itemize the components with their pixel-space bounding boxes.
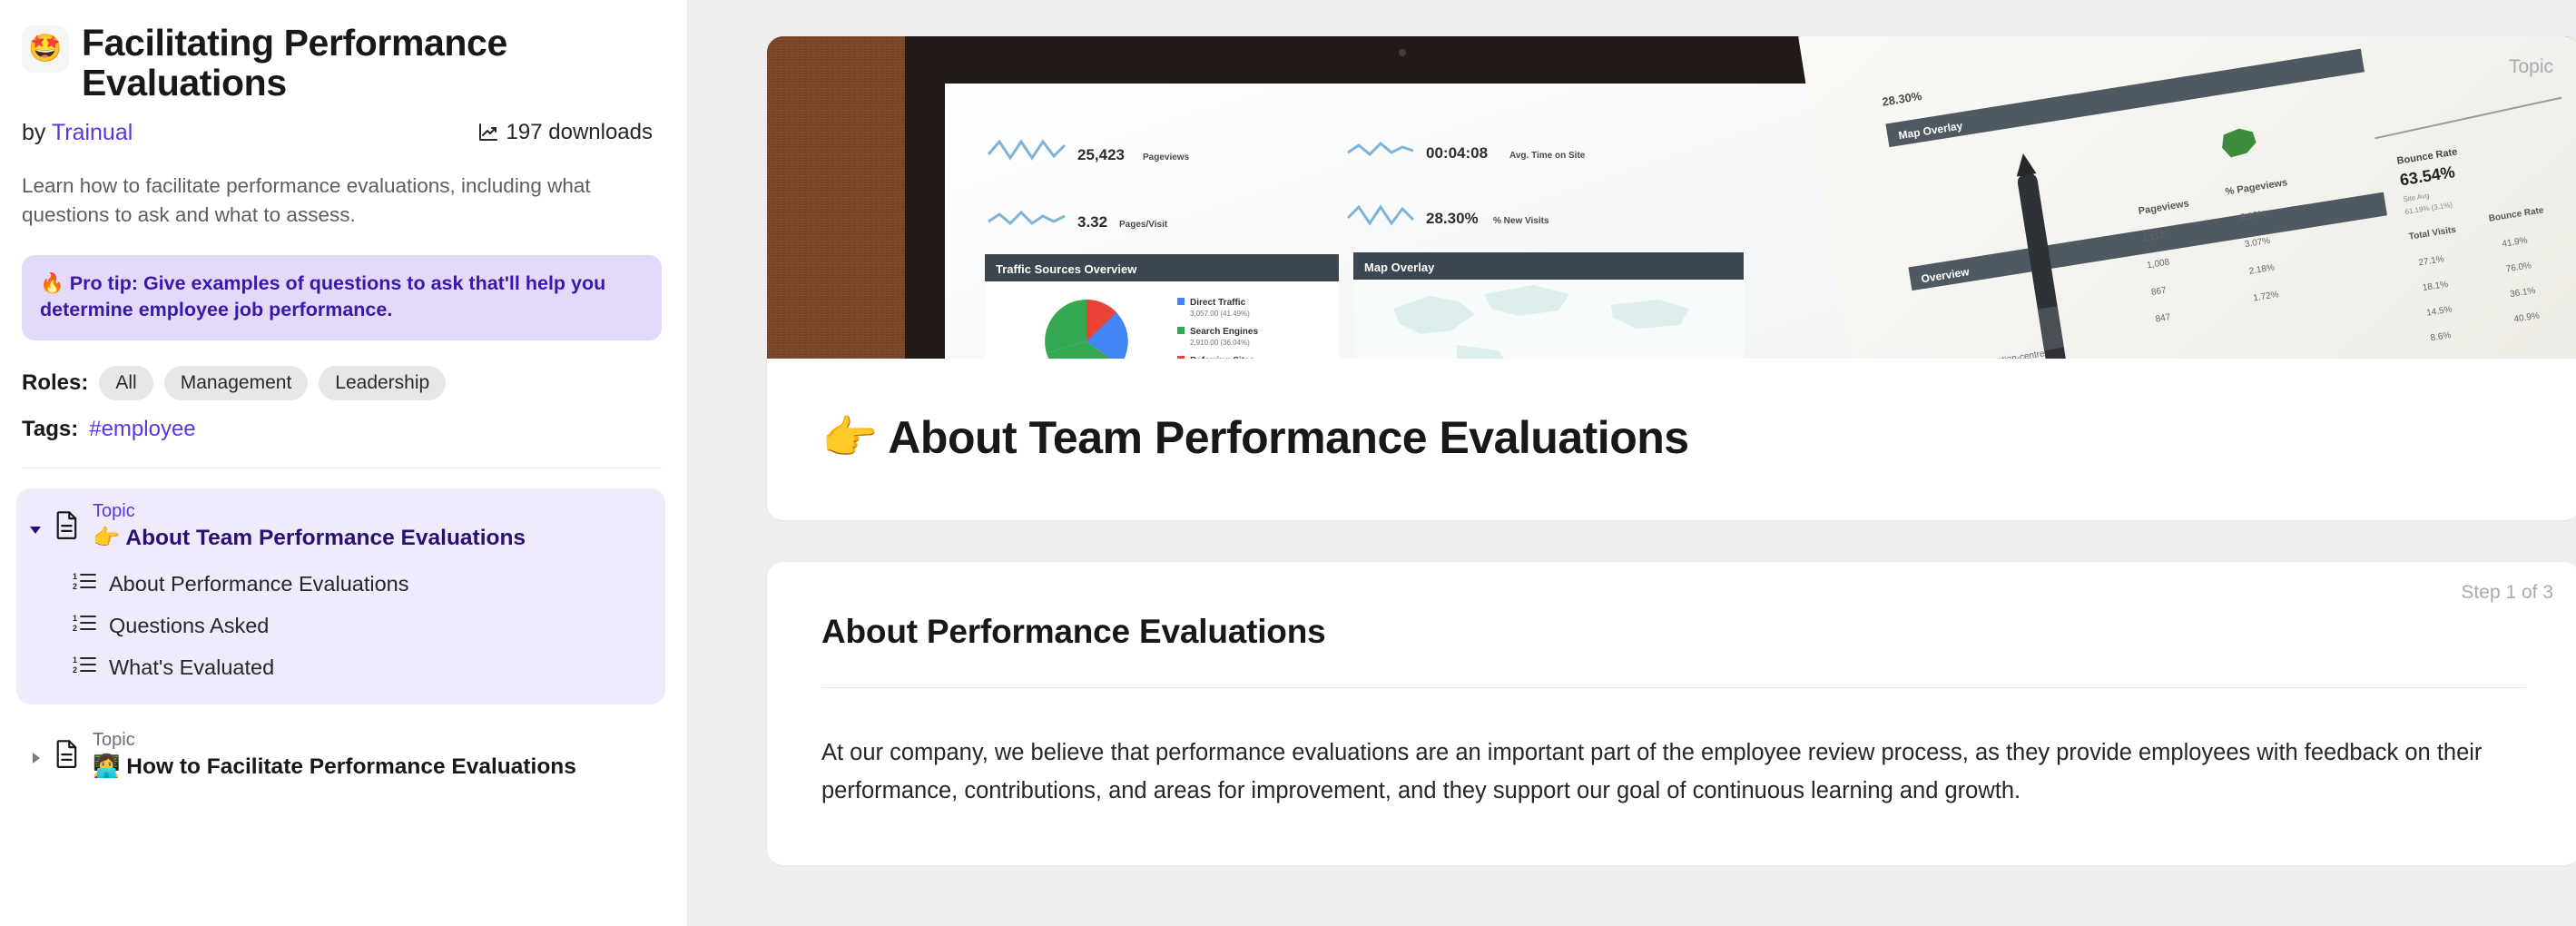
svg-text:2: 2 xyxy=(73,582,77,591)
tags-row: Tags: #employee xyxy=(22,417,662,442)
course-description: Learn how to facilitate performance eval… xyxy=(22,172,648,230)
main-inner: 25,423 Pageviews 00:04:08 Avg. Time on S… xyxy=(767,36,2576,865)
svg-text:Referring Sites: Referring Sites xyxy=(1190,356,1255,359)
downloads-stat: 197 downloads xyxy=(477,120,653,145)
tree-topic-texts: Topic 👩‍💻 How to Facilitate Performance … xyxy=(89,728,576,781)
tree-step-questions-asked[interactable]: 1 2 Questions Asked xyxy=(73,605,653,646)
pro-tip-callout: 🔥 Pro tip: Give examples of questions to… xyxy=(22,255,662,340)
roles-label: Roles: xyxy=(22,370,88,396)
svg-text:2: 2 xyxy=(73,624,77,633)
svg-text:Search Engines: Search Engines xyxy=(1190,327,1258,337)
trending-up-chart-icon xyxy=(477,122,499,143)
svg-text:Map Overlay: Map Overlay xyxy=(1364,261,1435,274)
tree-topic-header[interactable]: Topic 👉 About Team Performance Evaluatio… xyxy=(25,499,653,552)
document-icon xyxy=(54,510,80,544)
topic-hero-body: Topic 👉 About Team Performance Evaluatio… xyxy=(767,359,2576,520)
tree-topic-kicker: Topic xyxy=(93,728,576,752)
tree-steps-list: 1 2 About Performance Evaluations 1 2 xyxy=(25,563,653,688)
hero-photo-svg: 25,423 Pageviews 00:04:08 Avg. Time on S… xyxy=(767,36,2576,359)
svg-text:28.30%: 28.30% xyxy=(1426,210,1479,227)
step-counter-label: Step 1 of 3 xyxy=(2461,582,2553,604)
svg-text:2,910.00 (36.04%): 2,910.00 (36.04%) xyxy=(1190,339,1250,347)
ordered-list-icon: 1 2 xyxy=(73,655,96,680)
role-chip-all[interactable]: All xyxy=(99,366,152,400)
roles-row: Roles: All Management Leadership xyxy=(22,366,662,400)
svg-text:Traffic Sources Overview: Traffic Sources Overview xyxy=(996,262,1137,276)
topic-hero-card: 25,423 Pageviews 00:04:08 Avg. Time on S… xyxy=(767,36,2576,520)
document-icon xyxy=(54,739,80,773)
svg-text:Pageviews: Pageviews xyxy=(1143,153,1190,163)
svg-text:1: 1 xyxy=(73,572,77,581)
byline: by Trainual xyxy=(22,120,133,146)
topic-heading: 👉 About Team Performance Evaluations xyxy=(821,411,2526,464)
tree-step-label: What's Evaluated xyxy=(109,655,274,680)
tree-topic-texts: Topic 👉 About Team Performance Evaluatio… xyxy=(89,499,526,552)
tree-topic-header[interactable]: Topic 👩‍💻 How to Facilitate Performance … xyxy=(25,728,653,781)
tree-topic-about-team-performance-evaluations[interactable]: Topic 👉 About Team Performance Evaluatio… xyxy=(16,488,665,704)
title-row: 🤩 Facilitating Performance Evaluations xyxy=(22,22,662,103)
ordered-list-icon: 1 2 xyxy=(73,613,96,638)
ordered-list-icon: 1 2 xyxy=(73,571,96,596)
page-title: Facilitating Performance Evaluations xyxy=(82,22,662,103)
role-chip-leadership[interactable]: Leadership xyxy=(319,366,446,400)
star-struck-emoji: 🤩 xyxy=(22,25,69,73)
tree-step-about-performance-evaluations[interactable]: 1 2 About Performance Evaluations xyxy=(73,563,653,605)
topic-kind-label: Topic xyxy=(2509,56,2553,78)
tablet-analytics-dashboard-photo: 25,423 Pageviews 00:04:08 Avg. Time on S… xyxy=(767,36,2576,359)
svg-text:Avg. Time on Site: Avg. Time on Site xyxy=(1509,151,1586,161)
sidebar-header: 🤩 Facilitating Performance Evaluations b… xyxy=(0,0,687,468)
main-content: 25,423 Pageviews 00:04:08 Avg. Time on S… xyxy=(687,0,2576,926)
tree-topic-how-to-facilitate-performance-evaluations[interactable]: Topic 👩‍💻 How to Facilitate Performance … xyxy=(16,717,665,797)
byline-row: by Trainual 197 downloads xyxy=(22,120,662,146)
svg-text:25,423: 25,423 xyxy=(1077,146,1125,163)
step-body: Step 1 of 3 About Performance Evaluation… xyxy=(767,562,2576,865)
tree-topic-name: 👩‍💻 How to Facilitate Performance Evalua… xyxy=(93,753,576,781)
svg-text:1: 1 xyxy=(73,614,77,623)
svg-text:3.32: 3.32 xyxy=(1077,213,1107,231)
tree-step-label: About Performance Evaluations xyxy=(109,572,409,596)
role-chip-management[interactable]: Management xyxy=(164,366,309,400)
chevron-right-icon[interactable] xyxy=(25,748,45,768)
step-divider xyxy=(821,687,2526,688)
svg-text:Pages/Visit: Pages/Visit xyxy=(1119,220,1168,230)
app-root: 🤩 Facilitating Performance Evaluations b… xyxy=(0,0,2576,926)
svg-text:1: 1 xyxy=(73,655,77,665)
tree-topic-kicker: Topic xyxy=(93,499,526,523)
step-paragraph: At our company, we believe that performa… xyxy=(821,734,2519,811)
step-heading: About Performance Evaluations xyxy=(821,613,2526,651)
byline-prefix: by xyxy=(22,120,52,145)
content-tree: Topic 👉 About Team Performance Evaluatio… xyxy=(0,468,687,798)
downloads-count: 197 downloads xyxy=(506,120,653,145)
tree-step-whats-evaluated[interactable]: 1 2 What's Evaluated xyxy=(73,646,653,688)
sidebar: 🤩 Facilitating Performance Evaluations b… xyxy=(0,0,687,926)
svg-text:00:04:08: 00:04:08 xyxy=(1426,144,1488,162)
svg-text:Direct Traffic: Direct Traffic xyxy=(1190,298,1246,308)
tags-label: Tags: xyxy=(22,417,78,442)
svg-text:% New Visits: % New Visits xyxy=(1493,216,1549,226)
step-card: Step 1 of 3 About Performance Evaluation… xyxy=(767,562,2576,865)
svg-text:2: 2 xyxy=(73,665,77,675)
author-link[interactable]: Trainual xyxy=(52,120,133,145)
tag-link-employee[interactable]: #employee xyxy=(89,417,195,442)
tree-step-label: Questions Asked xyxy=(109,614,269,638)
chevron-down-icon[interactable] xyxy=(25,519,45,539)
svg-text:3,057.00 (41.49%): 3,057.00 (41.49%) xyxy=(1190,310,1250,318)
tree-topic-name: 👉 About Team Performance Evaluations xyxy=(93,524,526,552)
